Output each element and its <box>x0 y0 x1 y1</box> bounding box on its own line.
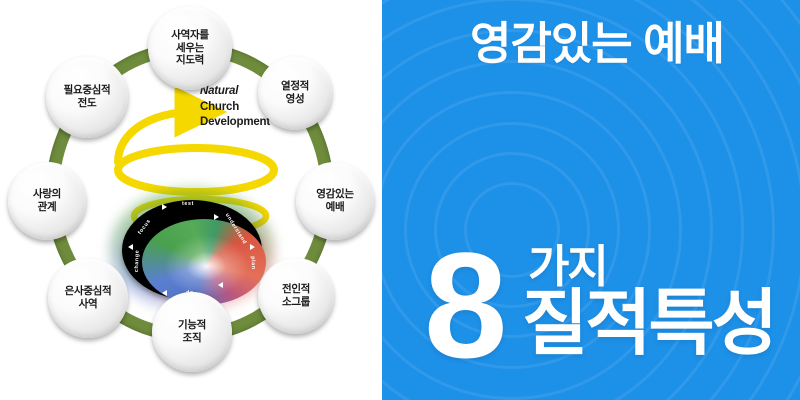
bubble-structures-line1: 기능적 <box>178 319 206 332</box>
ring-marker-icon <box>218 282 223 288</box>
bubble-evangelism-line1: 필요중심적 <box>64 84 111 97</box>
globe-color-face <box>142 219 266 305</box>
bubble-leadership-line1: 사역자를 <box>171 29 208 42</box>
bubble-structures[interactable]: 기능적 조직 <box>152 292 232 372</box>
bubble-relationships-line2: 관계 <box>38 201 57 214</box>
ring-word-plan: plan <box>250 256 256 270</box>
bubble-small-groups-line2: 소그룹 <box>282 296 310 309</box>
poster-subtitle-block: 8 가지 질적특성 <box>400 236 792 386</box>
ring-word-focus: focus <box>137 218 152 236</box>
poster-number-8: 8 <box>424 230 501 380</box>
bubble-spirituality-line1: 열정적 <box>281 80 309 93</box>
bubble-ministry-line2: 사역 <box>79 298 98 311</box>
ring-marker-icon <box>162 290 167 296</box>
ring-word-change: change <box>134 250 141 273</box>
poster-subtitle: 질적특성 <box>522 288 775 360</box>
bubble-spirituality[interactable]: 열정적 영성 <box>258 56 332 130</box>
ncd-wheel-diagram: test understand plan do change focus Nat… <box>0 0 382 400</box>
bubble-leadership[interactable]: 사역자를 세우는 지도력 <box>148 6 232 90</box>
bubble-relationships[interactable]: 사랑의 관계 <box>8 162 86 240</box>
ring-word-test: test <box>182 201 194 207</box>
bubble-leadership-line3: 지도력 <box>176 54 204 67</box>
bubble-evangelism-line2: 전도 <box>78 97 97 110</box>
ring-marker-icon <box>250 244 255 250</box>
bubble-worship[interactable]: 영감있는 예배 <box>296 162 374 240</box>
poster-headline: 영감있는 예배 <box>404 20 790 67</box>
ring-marker-icon <box>214 214 219 220</box>
globe-black-ring: test understand plan do change focus <box>122 200 262 300</box>
bubble-small-groups[interactable]: 전인적 소그룹 <box>258 258 334 334</box>
poster-canvas: test understand plan do change focus Nat… <box>0 0 800 400</box>
bubble-worship-line1: 영감있는 <box>316 188 353 201</box>
bubble-leadership-line2: 세우는 <box>176 42 204 55</box>
blue-title-poster: 영감있는 예배 8 가지 질적특성 <box>382 0 800 400</box>
bubble-small-groups-line1: 전인적 <box>282 283 310 296</box>
ring-marker-icon <box>162 204 167 210</box>
bubble-relationships-line1: 사랑의 <box>33 188 61 201</box>
bubble-ministry[interactable]: 은사중심적 사역 <box>48 258 128 338</box>
bubble-structures-line2: 조직 <box>183 332 202 345</box>
ring-marker-icon <box>128 244 133 250</box>
bubble-worship-line2: 예배 <box>326 201 345 214</box>
bubble-evangelism[interactable]: 필요중심적 전도 <box>46 56 128 138</box>
poster-unit-gaji: 가지 <box>528 244 607 289</box>
bubble-spirituality-line2: 영성 <box>286 93 305 106</box>
bubble-ministry-line1: 은사중심적 <box>65 285 112 298</box>
